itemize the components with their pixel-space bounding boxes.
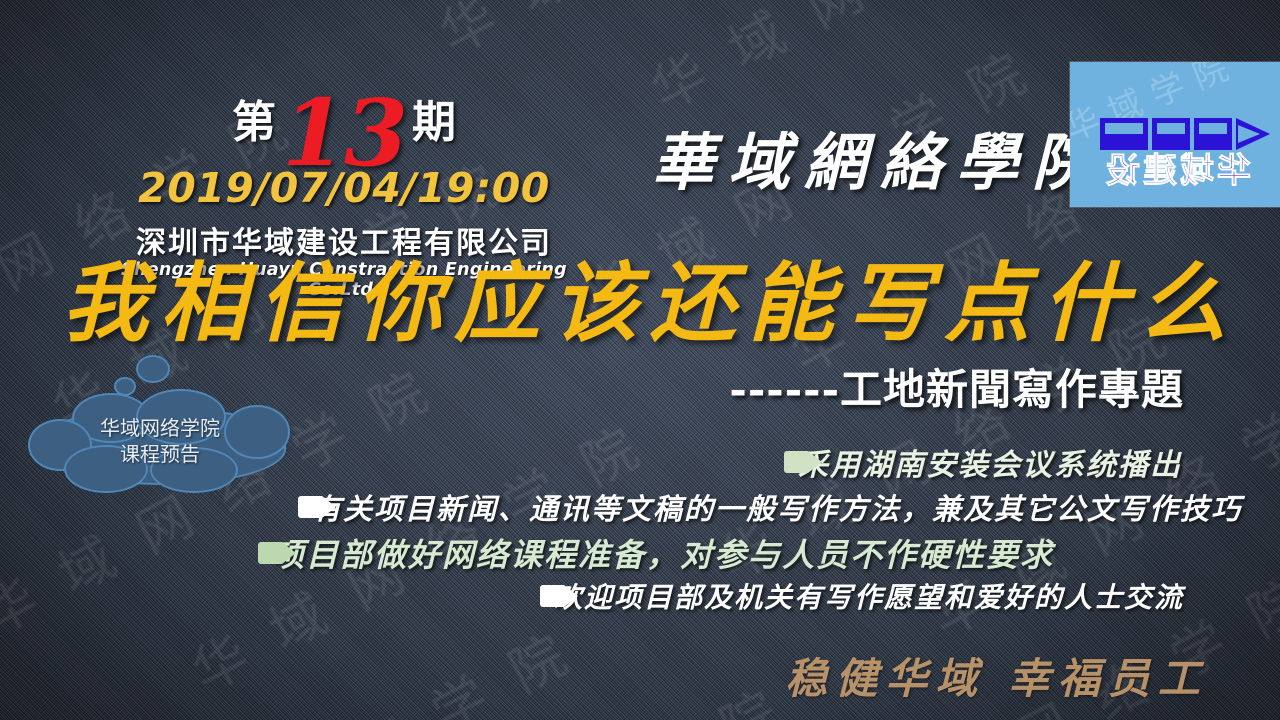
train-car-shape	[1152, 118, 1190, 150]
bubble-line-1: 华域网络学院	[100, 415, 220, 441]
bullet-label: 有关项目新闻、通讯等文稿的一般写作方法，兼及其它公文写作技巧	[312, 486, 1242, 528]
issue-suffix-label: 期	[412, 97, 456, 148]
company-logo: 华域学院 华域建设	[1070, 62, 1280, 207]
watermark-text: 华域网络学院	[423, 0, 926, 69]
bullet-item: 项目部做好网络课程准备，对参与人员不作硬性要求	[258, 530, 1054, 576]
bullet-train-icon	[1084, 118, 1270, 150]
page-title: 我相信你应该还能写点什么	[62, 252, 1238, 356]
logo-wordmark: 华域建设	[1084, 152, 1270, 190]
issue-prefix-label: 第	[232, 97, 276, 148]
issue-number-line: 第13期	[104, 84, 584, 162]
bullet-item: 有关项目新闻、通讯等文稿的一般写作方法，兼及其它公文写作技巧	[298, 486, 1242, 528]
academy-name: 華域網絡學院	[652, 112, 1108, 202]
train-car-shape	[1194, 118, 1232, 150]
thought-bubble: 华域网络学院 课程预告	[28, 393, 292, 489]
bubble-line-2: 课程预告	[120, 441, 200, 467]
corporate-slogan: 稳健华域 幸福员工	[785, 645, 1208, 706]
bullet-label: 项目部做好网络课程准备，对参与人员不作硬性要求	[272, 530, 1054, 576]
bullet-item: 欢迎项目部及机关有写作愿望和爱好的人士交流	[540, 576, 1184, 616]
bullet-label: 采用湖南安装会议系统播出	[798, 440, 1182, 484]
train-nose-shape	[1236, 118, 1270, 150]
watermark-text: 华域网络学院	[1162, 0, 1280, 14]
bubble-text-group: 华域网络学院 课程预告	[28, 393, 292, 489]
bullet-item: 采用湖南安装会议系统播出	[784, 440, 1182, 484]
course-announcement-poster: 华域网络学院华域网络学院华域网络学院 华域网络学院华域网络学院华域网络学院 华域…	[0, 0, 1280, 720]
train-car-shape	[1100, 118, 1148, 150]
issue-number: 13	[282, 79, 406, 187]
watermark-text: 华域网络学院	[635, 0, 1138, 126]
watermark-text: 华域网络学院	[316, 653, 819, 720]
bubble-tail-puff	[136, 355, 170, 383]
watermark-text: 华域网络学院	[105, 596, 608, 720]
bullet-label: 欢迎项目部及机关有写作愿望和爱好的人士交流	[554, 576, 1184, 616]
page-subtitle: ------工地新聞寫作專題	[729, 356, 1184, 417]
logo-inner-group: 华域建设	[1084, 118, 1270, 190]
